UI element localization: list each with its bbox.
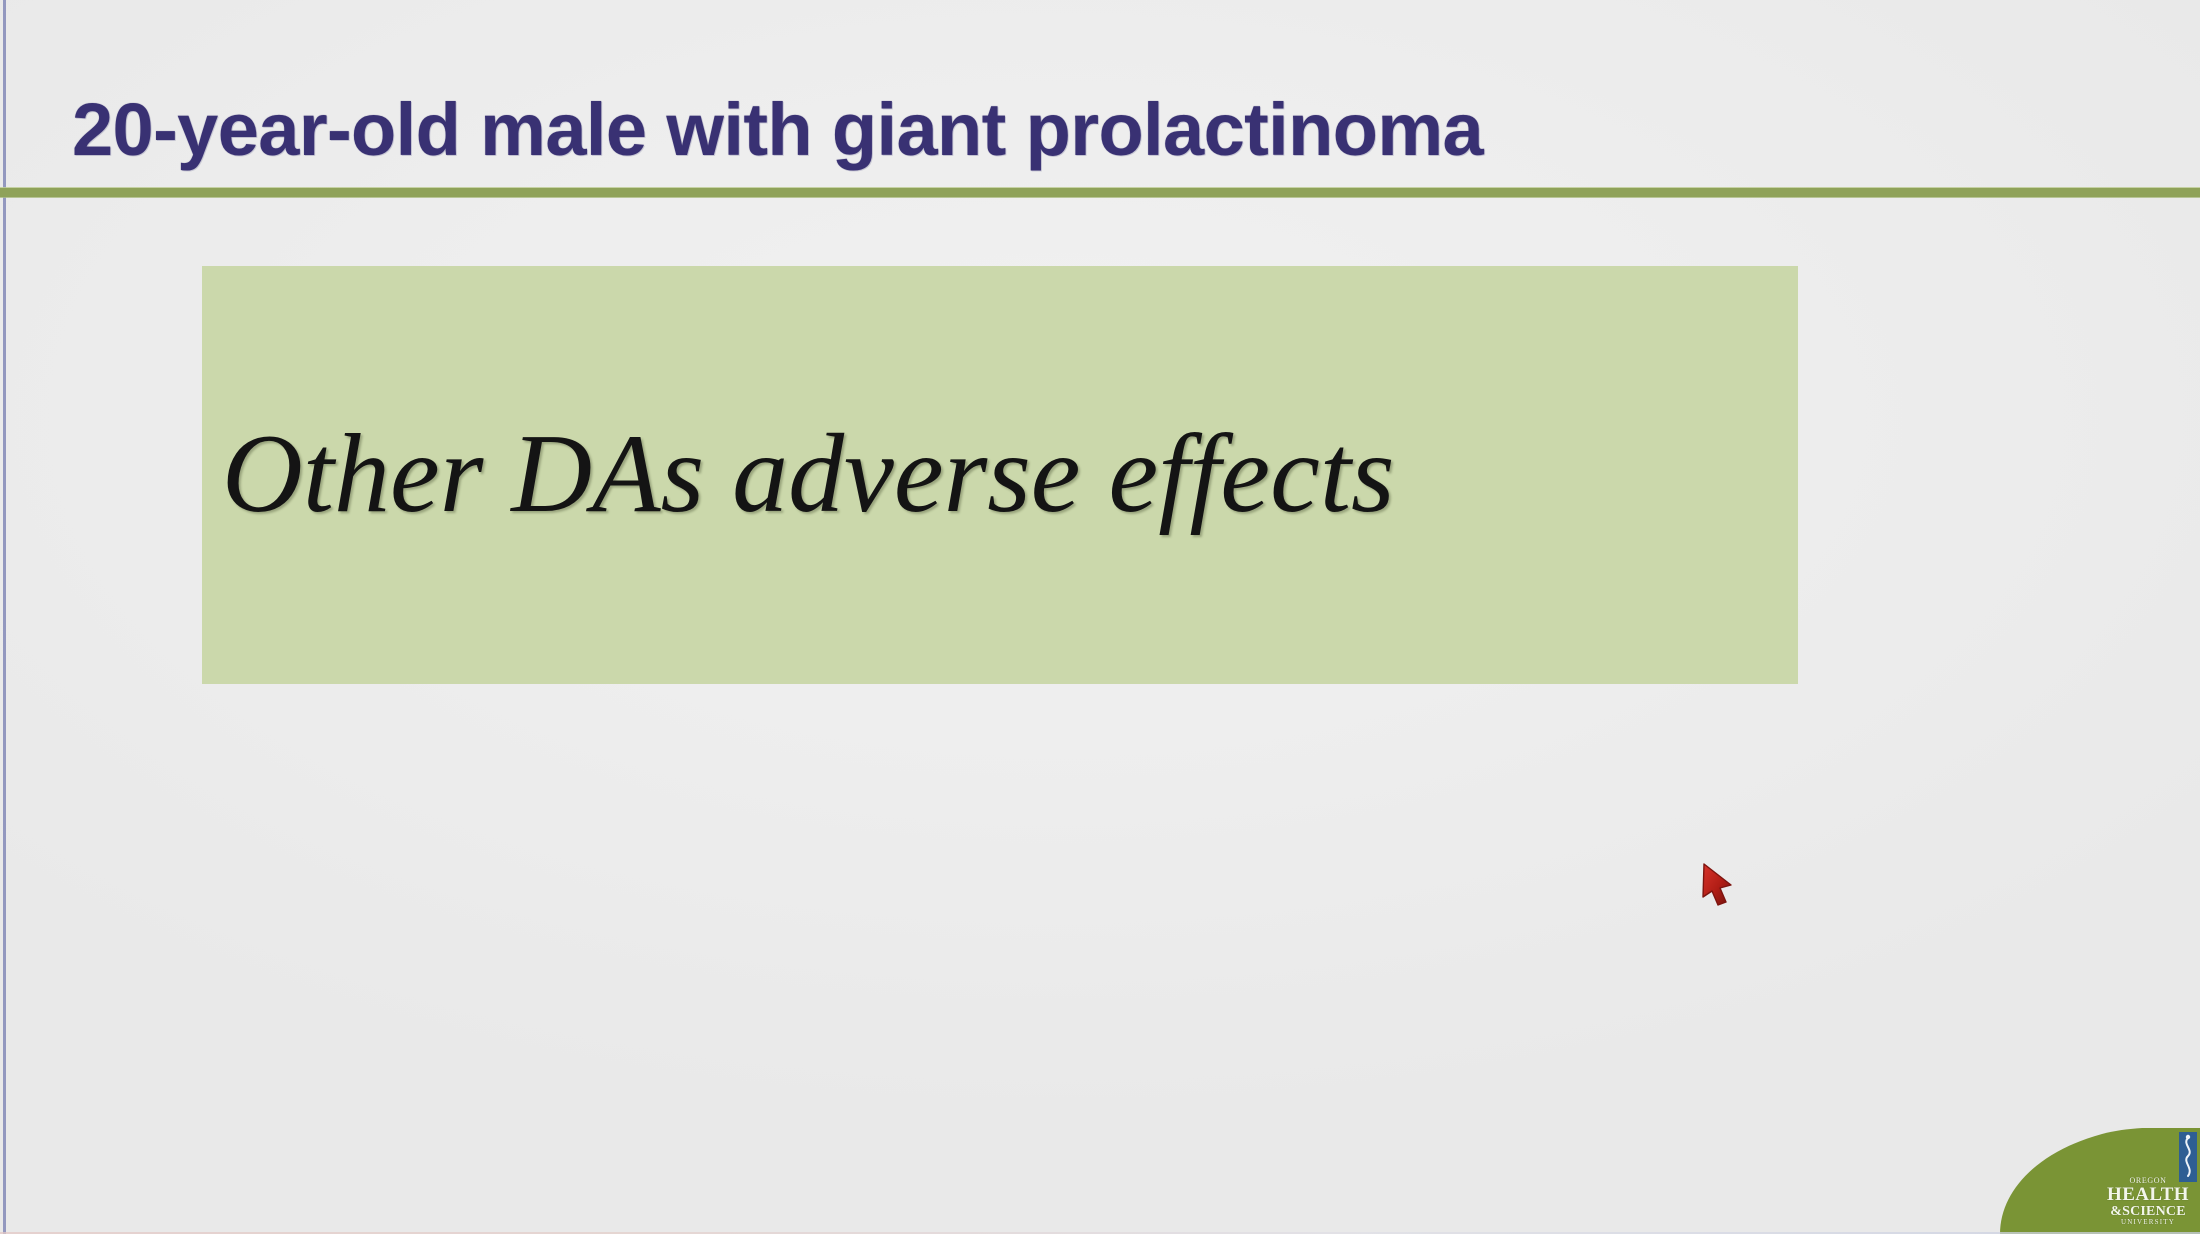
slide-title-block: 20-year-old male with giant prolactinoma [72,82,2072,182]
ohsu-wordmark: OREGON HEALTH &SCIENCE UNIVERSITY [2100,1177,2196,1226]
title-divider-rule [0,188,2200,197]
page-title: 20-year-old male with giant prolactinoma [72,82,2072,178]
ohsu-logo: OREGON HEALTH &SCIENCE UNIVERSITY [1992,1128,2200,1234]
ohsu-line-health: HEALTH [2100,1185,2196,1204]
ohsu-line-science: &SCIENCE [2100,1205,2196,1219]
ohsu-line-university: UNIVERSITY [2100,1219,2196,1226]
red-arrow-pointer-icon [1700,862,1744,908]
ohsu-emblem-icon [2178,1132,2198,1184]
presentation-slide: 20-year-old male with giant prolactinoma… [0,0,2200,1234]
left-edge-rule [3,0,6,1234]
content-callout-text: Other DAs adverse effects [222,414,1395,534]
content-callout-box: Other DAs adverse effects [202,266,1798,684]
